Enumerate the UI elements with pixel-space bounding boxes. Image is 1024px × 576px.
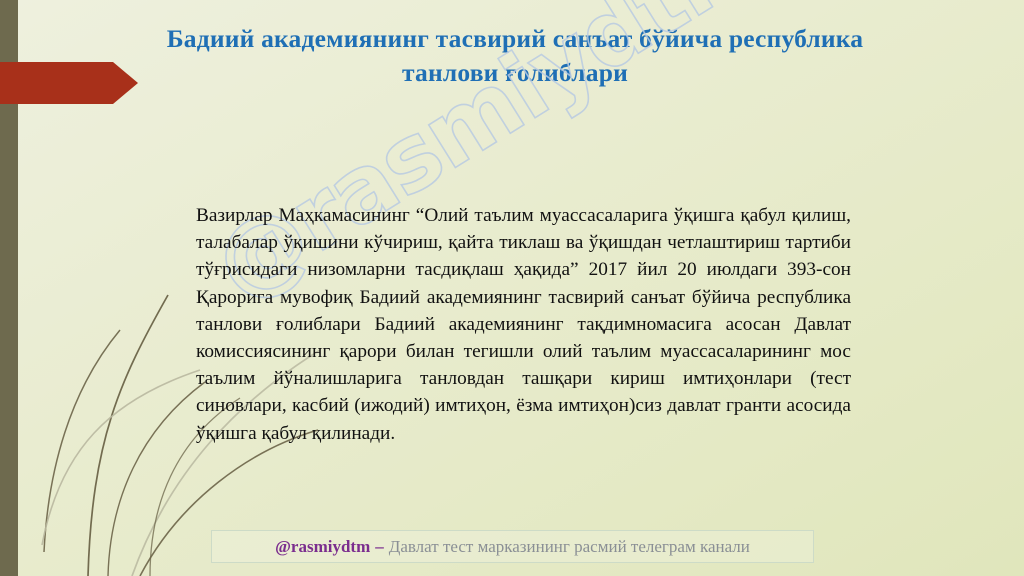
page-title: Бадиий академиянинг тасвирий санъат бўйи… bbox=[130, 22, 900, 90]
telegram-handle[interactable]: @rasmiydtm bbox=[275, 537, 370, 557]
slide-canvas: Бадиий академиянинг тасвирий санъат бўйи… bbox=[0, 0, 1024, 576]
banner-separator: – bbox=[370, 537, 389, 557]
banner-description: Давлат тест марказининг расмий телеграм … bbox=[389, 537, 750, 557]
red-chevron-arrow bbox=[0, 60, 140, 106]
footer-banner: @rasmiydtm – Давлат тест марказининг рас… bbox=[211, 530, 814, 563]
body-paragraph: Вазирлар Маҳкамасининг “Олий таълим муас… bbox=[196, 202, 851, 447]
